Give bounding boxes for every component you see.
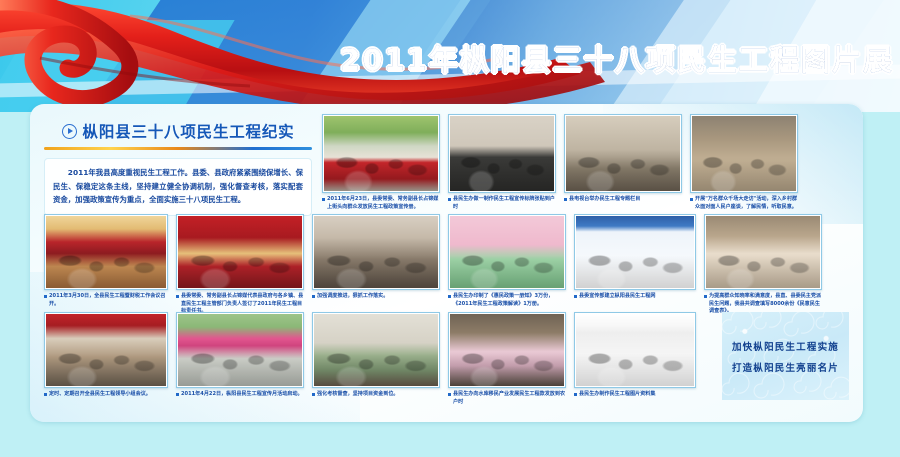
photo-tv-interview[interactable]: 县电视台举办民生工程专题栏目 <box>564 114 682 211</box>
photo-inspection-desk-image <box>314 314 438 386</box>
photo-detail-overlay <box>46 314 166 386</box>
photo-content <box>692 116 796 191</box>
photo-detail-overlay <box>178 314 302 386</box>
photo-photo-archive-site-frame[interactable] <box>574 312 696 388</box>
swirl-pattern-icon <box>722 312 849 400</box>
photo-training-session-caption: 加强调度推进，狠抓工作落实。 <box>312 293 440 301</box>
bullet-square-icon <box>704 295 707 298</box>
photo-content <box>576 314 694 386</box>
bullet-square-icon <box>564 198 567 201</box>
photo-leadership-meeting-frame[interactable] <box>44 312 168 388</box>
photo-detail-overlay <box>576 314 694 386</box>
photo-row-3: 定时、定期召开全县民生工程领导小组会议。2011年4月22日，枞阳县民生工程宣传… <box>44 312 696 406</box>
content-panel: 枞阳县三十八项民生工程纪实 2011年我县高度重视民生工程工作。县委、县政府紧紧… <box>30 104 863 422</box>
photo-brochures[interactable]: 县民生办印制了《惠民政策一册知》3万份，《2011年民生工程政策解读》1万册。 <box>448 214 566 316</box>
photo-signing-ceremony[interactable]: 县委常委、常务副县长占锦媒代表县政府与各乡镇、县直民生工程主管部门负责人签订了2… <box>176 214 304 316</box>
photo-household-delivery[interactable]: 县民生办向水库移民产业发展民生工程款发放到农户时 <box>448 312 566 406</box>
photo-content <box>450 216 564 288</box>
photo-tv-interview-frame[interactable] <box>564 114 682 193</box>
photo-detail-overlay <box>324 116 438 191</box>
photo-content <box>178 216 302 288</box>
intro-divider <box>44 147 312 150</box>
photo-photo-archive-site-caption: 县民生办制作民生工程图片资料集 <box>574 391 696 399</box>
caption-text: 加强调度推进，狠抓工作落实。 <box>317 293 440 301</box>
bullet-square-icon <box>448 198 451 201</box>
photo-inspection-desk-caption: 强化考核督查，坚持项目资金到位。 <box>312 391 440 399</box>
photo-detail-overlay <box>314 314 438 386</box>
photo-village-meeting-image <box>692 116 796 191</box>
photo-website-homepage-image <box>576 216 694 288</box>
photo-row-1: 2011年6月23日，县委常委、常务副县长占锦媒上街头向群众发放民生工程政策宣传… <box>322 114 798 211</box>
photo-village-meeting-caption: 开展"万名群众千场大走访"活动，深入乡村群众面对面人民户座谈，了解民情，听取民意… <box>690 196 798 211</box>
photo-content <box>46 216 166 288</box>
slogan-box: 加快枞阳民生工程实施 打造枞阳民生亮丽名片 <box>722 312 849 400</box>
photo-village-meeting-frame[interactable] <box>690 114 798 193</box>
photo-content <box>314 314 438 386</box>
photo-photo-archive-site-image <box>576 314 694 386</box>
bullet-square-icon <box>322 198 325 201</box>
photo-signing-ceremony-frame[interactable] <box>176 214 304 290</box>
photo-outdoor-campaign-frame[interactable] <box>176 312 304 388</box>
photo-public-notice-board-caption: 县民生办做一制作民生工程宣传标牌张贴到户时 <box>448 196 556 211</box>
photo-inspection-desk-frame[interactable] <box>312 312 440 388</box>
photo-village-meeting[interactable]: 开展"万名群众千场大走访"活动，深入乡村群众面对面人民户座谈，了解民情，听取民意… <box>690 114 798 211</box>
photo-signing-ceremony-image <box>178 216 302 288</box>
caption-text: 县民生办制作民生工程图片资料集 <box>579 391 696 399</box>
photo-row-2: 2011年3月30日，全县民生工程暨财税工作会议召开。县委常委、常务副县长占锦媒… <box>44 214 822 316</box>
bullet-square-icon <box>44 393 47 396</box>
photo-detail-overlay <box>566 116 680 191</box>
photo-website-homepage-caption: 县委宣传部建立枞阳县民生工程网 <box>574 293 696 301</box>
bullet-square-icon <box>176 295 179 298</box>
bullet-square-icon <box>44 295 47 298</box>
photo-content <box>314 216 438 288</box>
photo-household-delivery-caption: 县民生办向水库移民产业发展民生工程款发放到农户时 <box>448 391 566 406</box>
caption-text: 县委宣传部建立枞阳县民生工程网 <box>579 293 696 301</box>
photo-content <box>324 116 438 191</box>
caption-text: 定时、定期召开全县民生工程领导小组会议。 <box>49 391 168 399</box>
photo-tv-interview-image <box>566 116 680 191</box>
bullet-square-icon <box>690 198 693 201</box>
photo-content <box>450 116 554 191</box>
photo-public-notice-board-frame[interactable] <box>448 114 556 193</box>
photo-home-visit-survey-image <box>706 216 820 288</box>
photo-content <box>566 116 680 191</box>
intro-block: 枞阳县三十八项民生工程纪实 2011年我县高度重视民生工程工作。县委、县政府紧紧… <box>44 120 312 216</box>
page-title: 2011年枞阳县三十八项民生工程图片展 <box>340 37 894 79</box>
photo-auditorium-conference-caption: 2011年3月30日，全县民生工程暨财税工作会议召开。 <box>44 293 168 308</box>
photo-content <box>706 216 820 288</box>
photo-auditorium-conference-image <box>46 216 166 288</box>
photo-detail-overlay <box>706 216 820 288</box>
slogan-line-1: 加快枞阳民生工程实施 <box>732 339 839 353</box>
photo-training-session-frame[interactable] <box>312 214 440 290</box>
photo-content <box>450 314 564 386</box>
photo-leadership-meeting-caption: 定时、定期召开全县民生工程领导小组会议。 <box>44 391 168 399</box>
caption-text: 2011年6月23日，县委常委、常务副县长占锦媒上街头向群众发放民生工程政策宣传… <box>327 196 440 211</box>
photo-registration-desk[interactable]: 2011年6月23日，县委常委、常务副县长占锦媒上街头向群众发放民生工程政策宣传… <box>322 114 440 211</box>
photo-leadership-meeting[interactable]: 定时、定期召开全县民生工程领导小组会议。 <box>44 312 168 406</box>
photo-household-delivery-frame[interactable] <box>448 312 566 388</box>
photo-content <box>46 314 166 386</box>
photo-brochures-caption: 县民生办印制了《惠民政策一册知》3万份，《2011年民生工程政策解读》1万册。 <box>448 293 566 308</box>
photo-inspection-desk[interactable]: 强化考核督查，坚持项目资金到位。 <box>312 312 440 406</box>
photo-detail-overlay <box>46 216 166 288</box>
photo-content <box>576 216 694 288</box>
photo-outdoor-campaign[interactable]: 2011年4月22日，枞阳县民生工程宣传月活动启动。 <box>176 312 304 406</box>
bullet-square-icon <box>574 393 577 396</box>
photo-content <box>178 314 302 386</box>
photo-detail-overlay <box>314 216 438 288</box>
header-banner: 2011年枞阳县三十八项民生工程图片展 <box>0 0 900 112</box>
caption-text: 2011年3月30日，全县民生工程暨财税工作会议召开。 <box>49 293 168 308</box>
photo-brochures-frame[interactable] <box>448 214 566 290</box>
photo-detail-overlay <box>450 216 564 288</box>
photo-registration-desk-frame[interactable] <box>322 114 440 193</box>
caption-text: 强化考核督查，坚持项目资金到位。 <box>317 391 440 399</box>
photo-outdoor-campaign-image <box>178 314 302 386</box>
bullet-square-icon <box>574 295 577 298</box>
bullet-square-icon <box>448 393 451 396</box>
photo-public-notice-board-image <box>450 116 554 191</box>
bullet-square-icon <box>176 393 179 396</box>
photo-website-homepage[interactable]: 县委宣传部建立枞阳县民生工程网 <box>574 214 696 316</box>
photo-brochures-image <box>450 216 564 288</box>
photo-website-homepage-frame[interactable] <box>574 214 696 290</box>
caption-text: 县民生办做一制作民生工程宣传标牌张贴到户时 <box>453 196 556 211</box>
photo-auditorium-conference-frame[interactable] <box>44 214 168 290</box>
caption-text: 县电视台举办民生工程专题栏目 <box>569 196 682 204</box>
photo-detail-overlay <box>450 314 564 386</box>
intro-heading: 枞阳县三十八项民生工程纪实 <box>44 120 312 142</box>
intro-paragraph: 2011年我县高度重视民生工程工作。县委、县政府紧紧围绕保增长、保民生、保稳定这… <box>44 158 312 216</box>
photo-detail-overlay <box>692 116 796 191</box>
photo-home-visit-survey[interactable]: 为提高群众知晓率和满意度，县直、县委民主党派民生问题，我县共调查填写8000余份… <box>704 214 822 316</box>
photo-home-visit-survey-frame[interactable] <box>704 214 822 290</box>
title-container: 2011年枞阳县三十八项民生工程图片展 <box>352 36 882 80</box>
caption-text: 县民生办印制了《惠民政策一册知》3万份，《2011年民生工程政策解读》1万册。 <box>453 293 566 308</box>
photo-leadership-meeting-image <box>46 314 166 386</box>
photo-household-delivery-image <box>450 314 564 386</box>
photo-auditorium-conference[interactable]: 2011年3月30日，全县民生工程暨财税工作会议召开。 <box>44 214 168 316</box>
photo-registration-desk-caption: 2011年6月23日，县委常委、常务副县长占锦媒上街头向群众发放民生工程政策宣传… <box>322 196 440 211</box>
slogan-line-2: 打造枞阳民生亮丽名片 <box>732 360 839 374</box>
photo-detail-overlay <box>576 216 694 288</box>
photo-photo-archive-site[interactable]: 县民生办制作民生工程图片资料集 <box>574 312 696 406</box>
caption-text: 2011年4月22日，枞阳县民生工程宣传月活动启动。 <box>181 391 304 399</box>
photo-detail-overlay <box>450 116 554 191</box>
play-circle-icon <box>62 124 77 139</box>
photo-tv-interview-caption: 县电视台举办民生工程专题栏目 <box>564 196 682 204</box>
photo-training-session[interactable]: 加强调度推进，狠抓工作落实。 <box>312 214 440 316</box>
photo-training-session-image <box>314 216 438 288</box>
bullet-square-icon <box>312 295 315 298</box>
caption-text: 开展"万名群众千场大走访"活动，深入乡村群众面对面人民户座谈，了解民情，听取民意… <box>695 196 798 211</box>
caption-text: 县民生办向水库移民产业发展民生工程款发放到农户时 <box>453 391 566 406</box>
photo-registration-desk-image <box>324 116 438 191</box>
photo-outdoor-campaign-caption: 2011年4月22日，枞阳县民生工程宣传月活动启动。 <box>176 391 304 399</box>
intro-title: 枞阳县三十八项民生工程纪实 <box>83 120 295 142</box>
bullet-square-icon <box>312 393 315 396</box>
photo-detail-overlay <box>178 216 302 288</box>
bullet-square-icon <box>448 295 451 298</box>
photo-public-notice-board[interactable]: 县民生办做一制作民生工程宣传标牌张贴到户时 <box>448 114 556 211</box>
